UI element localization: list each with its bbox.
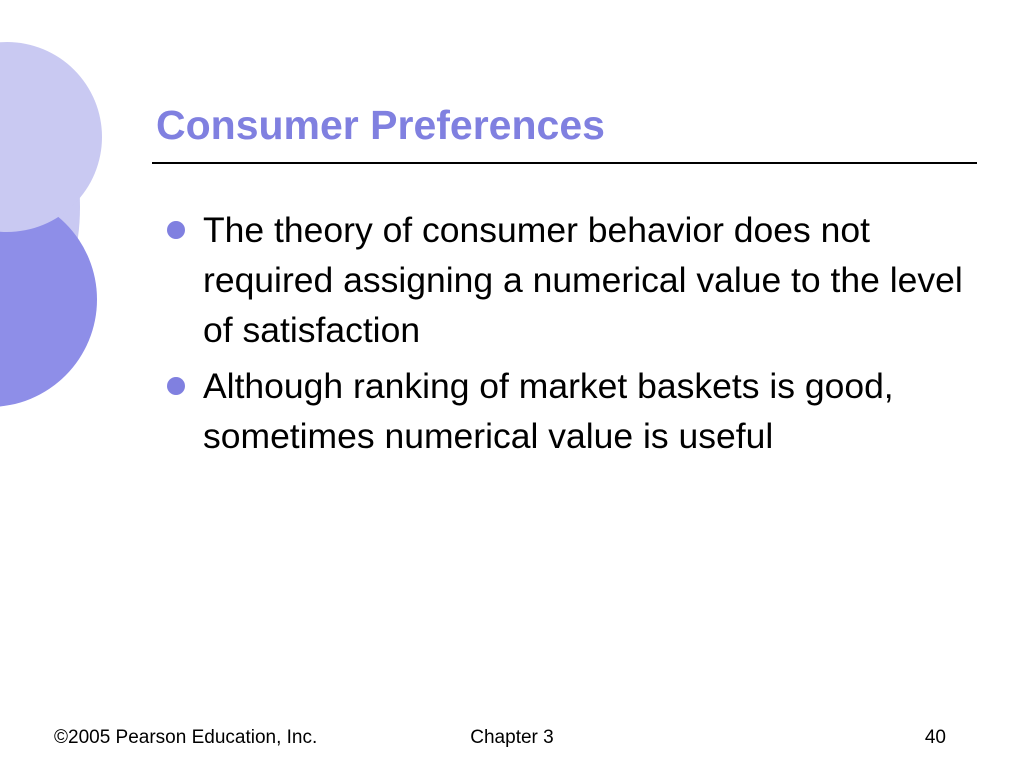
list-item-text: The theory of consumer behavior does not…	[203, 205, 973, 355]
footer-page-number: 40	[925, 727, 946, 749]
page-title: Consumer Preferences	[156, 100, 986, 150]
bullet-list: The theory of consumer behavior does not…	[163, 205, 973, 467]
bullet-point-icon	[167, 221, 185, 239]
list-item-text: Although ranking of market baskets is go…	[203, 361, 973, 461]
title-divider	[152, 162, 977, 164]
presentation-slide: Consumer Preferences The theory of consu…	[0, 0, 1024, 767]
bullet-point-icon	[167, 377, 185, 395]
footer-chapter: Chapter 3	[0, 727, 1024, 749]
list-item: The theory of consumer behavior does not…	[163, 205, 973, 355]
list-item: Although ranking of market baskets is go…	[163, 361, 973, 461]
decorative-circle-pale-icon	[0, 42, 102, 232]
